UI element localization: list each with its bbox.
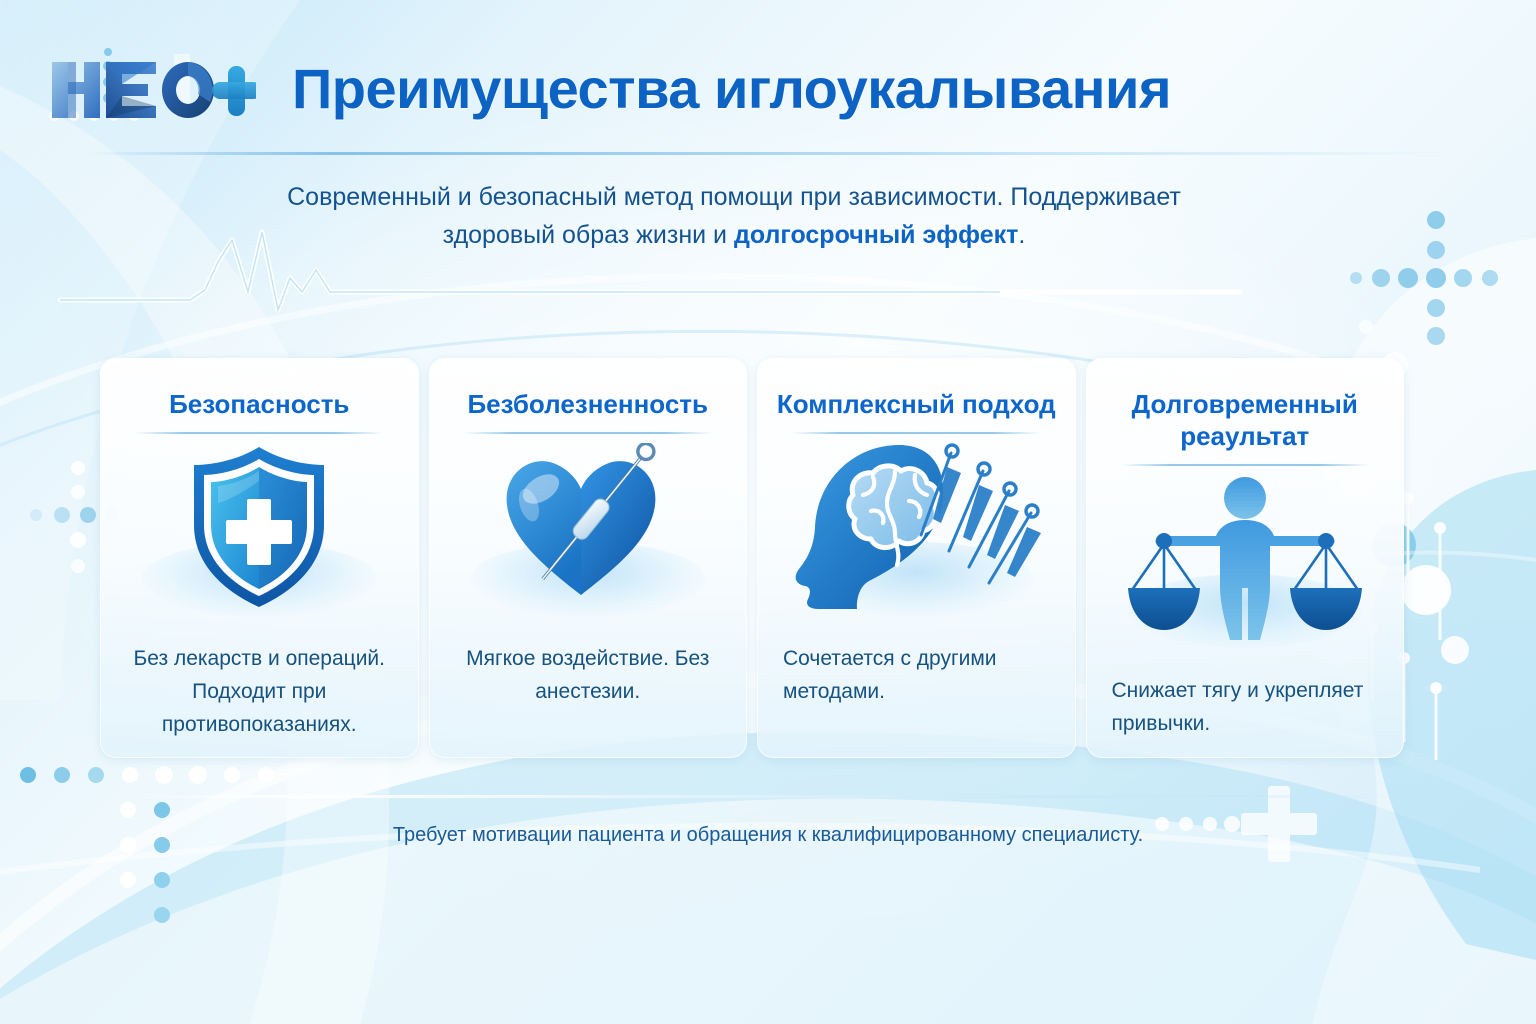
card-icon-wrap [100, 434, 419, 620]
card-text: Сочетается с другими методами. [773, 642, 1060, 708]
footer-divider [120, 795, 1420, 798]
subtitle-highlight: долгосрочный эффект [734, 221, 1018, 249]
shield-cross-icon [184, 443, 334, 611]
subtitle-line-2-suffix: . [1018, 221, 1025, 249]
card-title: Безболезненность [443, 388, 734, 420]
card-title: Безопасность [114, 388, 405, 420]
card-title: Комплексный подход [771, 388, 1062, 420]
balance-person-icon [1120, 474, 1370, 644]
benefit-card-complex-approach[interactable]: Комплексный подход [757, 358, 1076, 758]
subtitle-line-2-prefix: здоровый образ жизни и [443, 221, 734, 249]
header-divider [88, 152, 1452, 155]
benefit-cards: Безопасность [100, 358, 1404, 758]
benefit-card-safety[interactable]: Безопасность [100, 358, 419, 758]
brand-logo[interactable] [46, 48, 256, 132]
head-brain-needles-icon [791, 439, 1041, 615]
card-text: Снижает тягу и укрепляет привычки. [1102, 674, 1389, 740]
footer-note: Требует мотивации пациента и обращения к… [168, 820, 1368, 850]
subtitle-line-1: Современный и безопасный метод помощи пр… [287, 183, 1181, 211]
header: Преимущества иглоукалывания [0, 0, 1536, 152]
subtitle: Современный и безопасный метод помощи пр… [268, 178, 1200, 254]
card-text: Без лекарств и операций. Подходит при пр… [116, 642, 403, 741]
card-icon-wrap [429, 434, 748, 620]
heart-needle-icon [493, 443, 683, 611]
card-text: Мягкое воздействие. Без анестезии. [445, 642, 732, 708]
card-title: Долговременный реаультат [1100, 388, 1391, 452]
infographic-poster: Преимущества иглоукалывания Современный … [0, 0, 1536, 1024]
card-icon-wrap [1086, 466, 1405, 652]
acupuncture-needles [921, 445, 1041, 583]
page-title: Преимущества иглоукалывания [292, 56, 1171, 121]
benefit-card-painless[interactable]: Безболезненность [429, 358, 748, 758]
benefit-card-long-term-result[interactable]: Долговременный реаультат [1086, 358, 1405, 758]
card-icon-wrap [757, 434, 1076, 620]
